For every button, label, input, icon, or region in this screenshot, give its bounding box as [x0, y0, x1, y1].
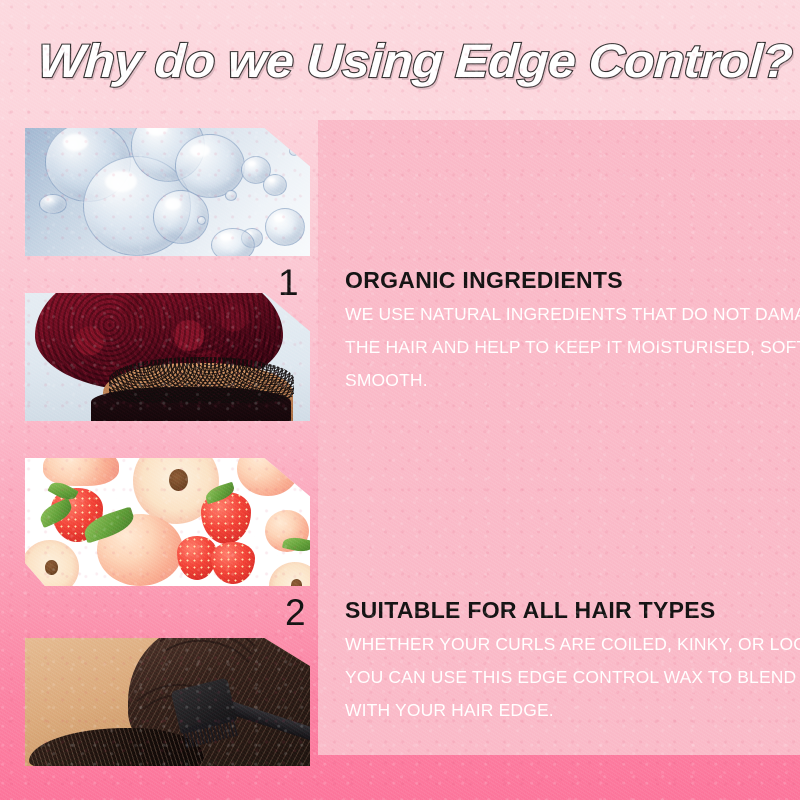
- feature-heading-1: ORGANIC INGREDIENTS: [345, 266, 790, 294]
- feature-row-2: 2 SUITABLE FOR ALL HAIR TYPES WHETHER YO…: [0, 293, 800, 433]
- fruit-pattern-illustration: [25, 458, 310, 586]
- curly-afro-hair-photo: [25, 293, 310, 421]
- water-bubbles-photo: [25, 128, 310, 256]
- page-title: Why do we Using Edge Control?: [36, 30, 800, 94]
- peaches-and-strawberries-photo: [25, 458, 310, 586]
- afro-hair-illustration: [25, 293, 310, 421]
- eyebrow-shape: [29, 728, 204, 766]
- feature-heading-2: SUITABLE FOR ALL HAIR TYPES: [345, 596, 790, 624]
- feature-row-4: 4 EASY & CONVENIENT TO OPERATE SUITABLE …: [0, 638, 800, 778]
- feature-row-1: 1 ORGANIC INGREDIENTS WE USE NATURAL ING…: [0, 128, 800, 268]
- bubbles-illustration: [25, 128, 310, 256]
- laid-edges-illustration: [25, 638, 310, 766]
- laid-edges-with-brush-photo: [25, 638, 310, 766]
- baby-hair-edges: [109, 357, 294, 403]
- infographic-page: Why do we Using Edge Control? 1: [0, 0, 800, 800]
- feature-row-3: 3 FRESH AND SWEET SCENT THIS AMAZING FOR…: [0, 458, 800, 598]
- feature-number-2: 2: [285, 594, 306, 631]
